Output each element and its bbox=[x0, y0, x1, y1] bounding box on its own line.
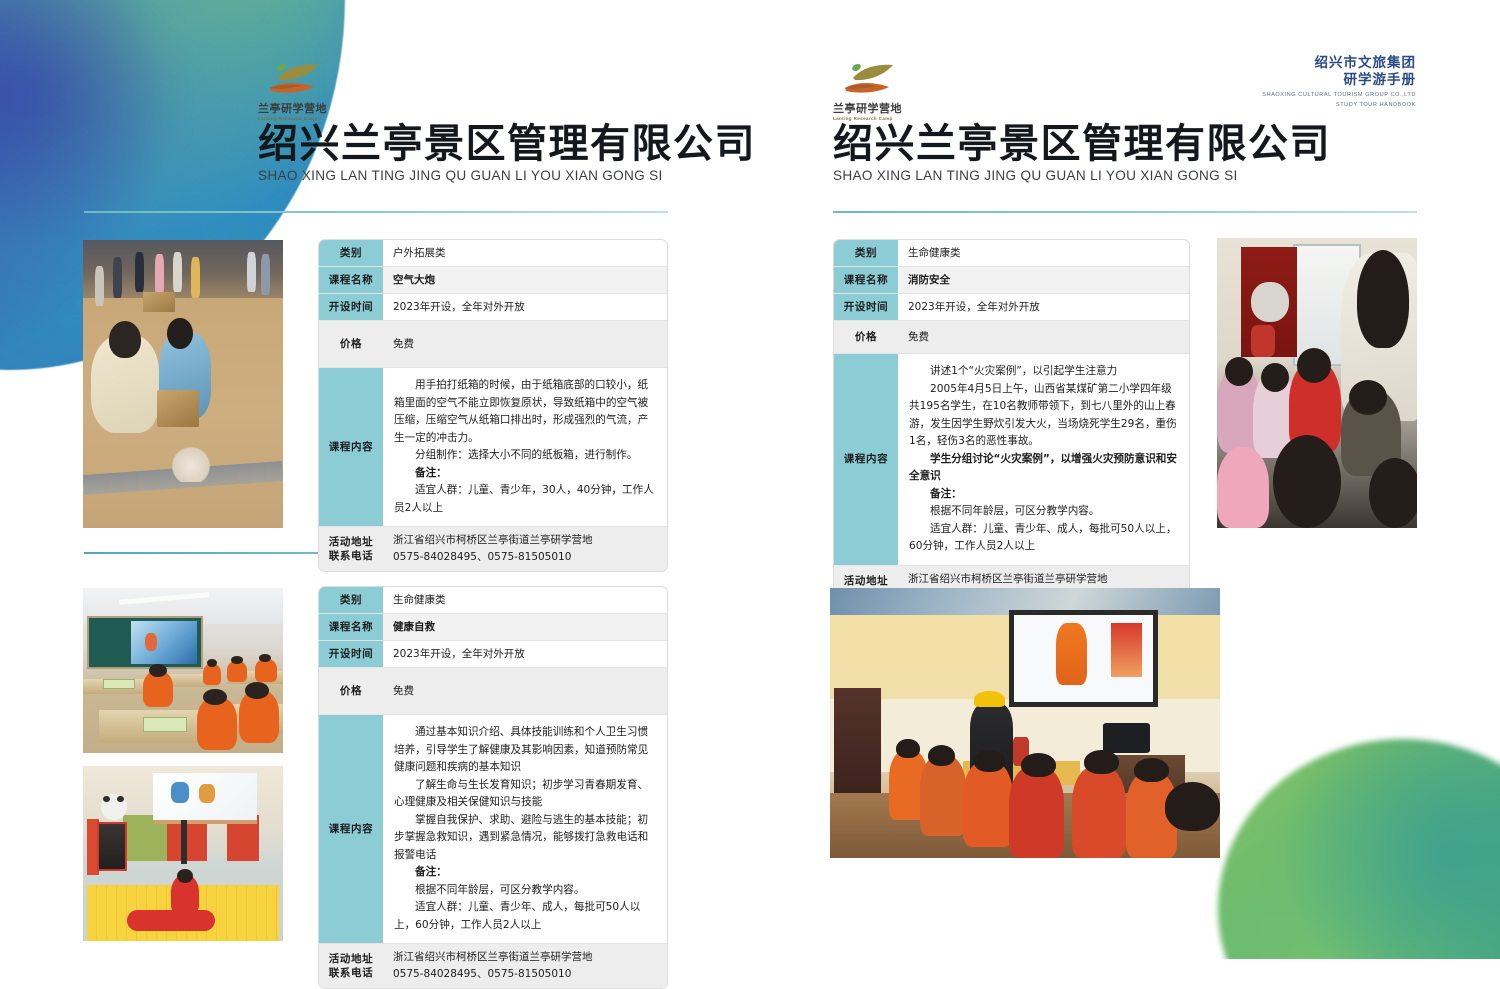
label-phone: 联系电话 bbox=[329, 549, 373, 563]
table-row-price: 价格 免费 bbox=[319, 668, 667, 715]
label-address: 活动地址 bbox=[844, 574, 888, 588]
camp-logo-cn: 兰亭研学营地 bbox=[833, 103, 911, 115]
value-address-phone: 浙江省绍兴市柯桥区兰亭街道兰亭研学营地 0575-84028495、0575-8… bbox=[383, 944, 667, 988]
photo-fire-class-scene bbox=[830, 588, 1220, 858]
content-paragraph: 讲述1个“火灾案例”，以引起学生注意力 bbox=[909, 363, 1178, 381]
group-brand-en-line2: STUDY TOUR HANDBOOK bbox=[1262, 101, 1416, 109]
value-address: 浙江省绍兴市柯桥区兰亭街道兰亭研学营地 bbox=[393, 532, 657, 549]
table-row-category: 类别 生命健康类 bbox=[834, 240, 1189, 267]
label-course-name: 课程名称 bbox=[834, 267, 898, 293]
value-address: 浙江省绍兴市柯桥区兰亭街道兰亭研学营地 bbox=[908, 571, 1179, 588]
header-divider-right bbox=[833, 211, 1417, 213]
label-open-time: 开设时间 bbox=[319, 294, 383, 320]
group-brand-en-line1: SHAOXING CULTURAL TOURISM GROUP CO.,LTD bbox=[1262, 91, 1416, 99]
label-category: 类别 bbox=[834, 240, 898, 266]
content-paragraph: 根据不同年龄层，可区分教学内容。 bbox=[394, 882, 656, 900]
bird-brushstroke-icon bbox=[258, 62, 328, 98]
page-title-pinyin: SHAO XING LAN TING JING QU GUAN LI YOU X… bbox=[258, 168, 756, 183]
content-paragraph: 适宜人群：儿童、青少年、成人，每批可50人以上，60分钟，工作人员2人以上 bbox=[909, 521, 1178, 556]
bird-brushstroke-icon bbox=[833, 62, 903, 98]
camp-logo: 兰亭研学营地 Lanting Research Camp bbox=[833, 62, 911, 118]
value-price: 免费 bbox=[383, 321, 667, 367]
photo-air-cannon-scene bbox=[83, 240, 283, 528]
label-address: 活动地址 bbox=[329, 952, 373, 966]
page-title-pinyin: SHAO XING LAN TING JING QU GUAN LI YOU X… bbox=[833, 168, 1331, 183]
camp-logo-cn: 兰亭研学营地 bbox=[258, 103, 336, 115]
value-course-name: 消防安全 bbox=[898, 267, 1189, 293]
group-brand-cn-line1: 绍兴市文旅集团 bbox=[1262, 55, 1416, 72]
page-title-cn: 绍兴兰亭景区管理有限公司 bbox=[258, 121, 756, 167]
photo-air-cannon bbox=[83, 240, 283, 528]
value-open-time: 2023年开设，全年对外开放 bbox=[383, 294, 667, 320]
table-row-open-time: 开设时间 2023年开设，全年对外开放 bbox=[319, 294, 667, 321]
label-address-phone: 活动地址 联系电话 bbox=[319, 527, 383, 571]
page-title-cn-text: 绍兴兰亭景区管理有限公司 bbox=[833, 121, 1331, 167]
label-address: 活动地址 bbox=[329, 535, 373, 549]
content-paragraph: 适宜人群：儿童、青少年、成人，每批可50人以上，60分钟，工作人员2人以上 bbox=[394, 899, 656, 934]
value-phone: 0575-84028495、0575-81505010 bbox=[393, 966, 657, 983]
table-row-price: 价格 免费 bbox=[319, 321, 667, 368]
value-content: 讲述1个“火灾案例”，以引起学生注意力2005年4月5日上午，山西省某煤矿第二小… bbox=[898, 354, 1189, 565]
group-brand-cn-line2: 研学游手册 bbox=[1262, 72, 1416, 89]
header-left: 兰亭研学营地 Lanting Research Camp 绍兴兰亭景区管理有限公… bbox=[258, 62, 756, 183]
table-row-address-phone: 活动地址 联系电话 浙江省绍兴市柯桥区兰亭街道兰亭研学营地 0575-84028… bbox=[319, 944, 667, 988]
label-open-time: 开设时间 bbox=[319, 641, 383, 667]
header-right: 兰亭研学营地 Lanting Research Camp 绍兴兰亭景区管理有限公… bbox=[833, 62, 1331, 183]
label-price: 价格 bbox=[319, 321, 383, 367]
content-paragraph: 备注： bbox=[394, 864, 656, 882]
label-phone: 联系电话 bbox=[329, 966, 373, 980]
table-row-address-phone: 活动地址 联系电话 浙江省绍兴市柯桥区兰亭街道兰亭研学营地 0575-84028… bbox=[319, 527, 667, 571]
content-paragraph: 分组制作：选择大小不同的纸板箱，进行制作。 bbox=[394, 447, 656, 465]
table-row-content: 课程内容 通过基本知识介绍、具体技能训练和个人卫生习惯培养，引导学生了解健康及其… bbox=[319, 715, 667, 944]
content-paragraph: 通过基本知识介绍、具体技能训练和个人卫生习惯培养，引导学生了解健康及其影响因素，… bbox=[394, 724, 656, 777]
table-row-open-time: 开设时间 2023年开设，全年对外开放 bbox=[319, 641, 667, 668]
table-row-content: 课程内容 用手拍打纸箱的时候，由于纸箱底部的口较小，纸箱里面的空气不能立即恢复原… bbox=[319, 368, 667, 527]
content-paragraph: 备注： bbox=[909, 486, 1178, 504]
label-price: 价格 bbox=[319, 668, 383, 714]
content-paragraph: 用手拍打纸箱的时候，由于纸箱底部的口较小，纸箱里面的空气不能立即恢复原状，导致纸… bbox=[394, 377, 656, 447]
course-table-air-cannon: 类别 户外拓展类 课程名称 空气大炮 开设时间 2023年开设，全年对外开放 价… bbox=[318, 239, 668, 572]
value-course-name: 空气大炮 bbox=[383, 267, 667, 293]
photo-classroom-health bbox=[83, 588, 283, 753]
page-title-cn-text: 绍兴兰亭景区管理有限公司 bbox=[258, 121, 756, 167]
value-content: 通过基本知识介绍、具体技能训练和个人卫生习惯培养，引导学生了解健康及其影响因素，… bbox=[383, 715, 667, 943]
content-paragraph: 掌握自我保护、求助、避险与逃生的基本技能；初步掌握急救知识，遇到紧急情况，能够拨… bbox=[394, 812, 656, 865]
table-row-content: 课程内容 讲述1个“火灾案例”，以引起学生注意力2005年4月5日上午，山西省某… bbox=[834, 354, 1189, 566]
label-content: 课程内容 bbox=[319, 715, 383, 943]
value-category: 生命健康类 bbox=[898, 240, 1189, 266]
header-divider-left bbox=[84, 211, 668, 213]
group-brand-mark: 绍兴市文旅集团 研学游手册 SHAOXING CULTURAL TOURISM … bbox=[1262, 55, 1416, 109]
label-course-name: 课程名称 bbox=[319, 614, 383, 640]
value-phone: 0575-84028495、0575-81505010 bbox=[393, 549, 657, 566]
table-row-category: 类别 户外拓展类 bbox=[319, 240, 667, 267]
value-open-time: 2023年开设，全年对外开放 bbox=[898, 294, 1189, 320]
label-open-time: 开设时间 bbox=[834, 294, 898, 320]
photo-first-aid-mat bbox=[83, 766, 283, 941]
table-row-price: 价格 免费 bbox=[834, 321, 1189, 354]
table-row-course-name: 课程名称 健康自救 bbox=[319, 614, 667, 641]
label-price: 价格 bbox=[834, 321, 898, 353]
content-paragraph: 根据不同年龄层，可区分教学内容。 bbox=[909, 503, 1178, 521]
value-category: 户外拓展类 bbox=[383, 240, 667, 266]
label-category: 类别 bbox=[319, 240, 383, 266]
label-content: 课程内容 bbox=[319, 368, 383, 526]
label-course-name: 课程名称 bbox=[319, 267, 383, 293]
table-row-course-name: 课程名称 空气大炮 bbox=[319, 267, 667, 294]
label-category: 类别 bbox=[319, 587, 383, 613]
value-price: 免费 bbox=[898, 321, 1189, 353]
page-left: 兰亭研学营地 Lanting Research Camp 绍兴兰亭景区管理有限公… bbox=[0, 0, 750, 959]
camp-logo: 兰亭研学营地 Lanting Research Camp bbox=[258, 62, 336, 118]
value-open-time: 2023年开设，全年对外开放 bbox=[383, 641, 667, 667]
value-content: 用手拍打纸箱的时候，由于纸箱底部的口较小，纸箱里面的空气不能立即恢复原状，导致纸… bbox=[383, 368, 667, 526]
page-title-cn: 绍兴兰亭景区管理有限公司 bbox=[833, 121, 1331, 167]
content-paragraph: 2005年4月5日上午，山西省某煤矿第二小学四年级共195名学生，在10名教师带… bbox=[909, 381, 1178, 451]
content-paragraph: 学生分组讨论“火灾案例”，以增强火灾预防意识和安全意识 bbox=[909, 451, 1178, 486]
value-address-phone: 浙江省绍兴市柯桥区兰亭街道兰亭研学营地 0575-84028495、0575-8… bbox=[383, 527, 667, 571]
value-price: 免费 bbox=[383, 668, 667, 714]
label-content: 课程内容 bbox=[834, 354, 898, 565]
content-paragraph: 适宜人群：儿童、青少年，30人，40分钟，工作人员2人以上 bbox=[394, 482, 656, 517]
value-address: 浙江省绍兴市柯桥区兰亭街道兰亭研学营地 bbox=[393, 949, 657, 966]
page-right: 兰亭研学营地 Lanting Research Camp 绍兴兰亭景区管理有限公… bbox=[750, 0, 1500, 959]
value-category: 生命健康类 bbox=[383, 587, 667, 613]
value-course-name: 健康自救 bbox=[383, 614, 667, 640]
table-row-course-name: 课程名称 消防安全 bbox=[834, 267, 1189, 294]
course-table-health-self-rescue: 类别 生命健康类 课程名称 健康自救 开设时间 2023年开设，全年对外开放 价… bbox=[318, 586, 668, 989]
photo-fire-hydrant-scene bbox=[1217, 238, 1417, 528]
content-paragraph: 了解生命与生长发育知识；初步学习青春期发育、心理健康及相关保健知识与技能 bbox=[394, 777, 656, 812]
photo-fire-class bbox=[830, 588, 1220, 858]
photo-classroom-health-scene bbox=[83, 588, 283, 753]
table-row-category: 类别 生命健康类 bbox=[319, 587, 667, 614]
table-row-open-time: 开设时间 2023年开设，全年对外开放 bbox=[834, 294, 1189, 321]
photo-first-aid-mat-scene bbox=[83, 766, 283, 941]
label-address-phone: 活动地址 联系电话 bbox=[319, 944, 383, 988]
photo-fire-hydrant bbox=[1217, 238, 1417, 528]
course-table-fire-safety: 类别 生命健康类 课程名称 消防安全 开设时间 2023年开设，全年对外开放 价… bbox=[833, 239, 1190, 611]
content-paragraph: 备注： bbox=[394, 465, 656, 483]
